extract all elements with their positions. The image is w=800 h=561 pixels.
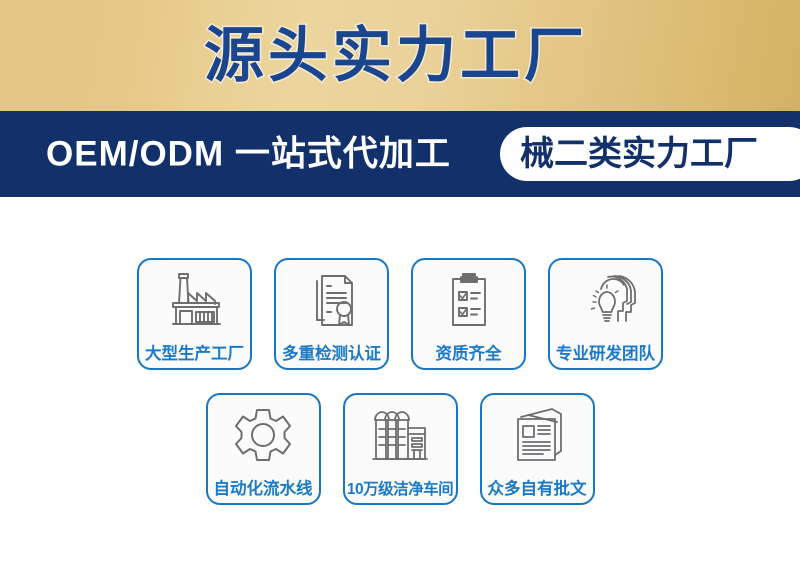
certification-pill: 械二类实力工厂 [500, 127, 800, 181]
feature-card-cleanroom[interactable]: 10万级洁净车间 [343, 393, 458, 505]
oem-odm-text: OEM/ODM 一站式代加工 [46, 137, 451, 172]
feature-card-own-approvals[interactable]: 众多自有批文 [480, 393, 595, 505]
clipboard-checklist-icon [437, 271, 501, 331]
feature-card-label: 自动化流水线 [201, 480, 326, 498]
feature-card-rnd-team[interactable]: 专业研发团队 [548, 258, 663, 370]
feature-card-large-factory[interactable]: 大型生产工厂 [137, 258, 252, 370]
factory-icon [163, 271, 227, 331]
feature-card-label: 多重检测认证 [269, 345, 394, 363]
feature-card-label: 大型生产工厂 [132, 345, 257, 363]
gear-icon [231, 406, 295, 466]
feature-card-multi-testing[interactable]: 多重检测认证 [274, 258, 389, 370]
certificate-icon [300, 271, 364, 331]
blue-subheader-band: OEM/ODM 一站式代加工 械二类实力工厂 [0, 111, 800, 197]
feature-card-label: 众多自有批文 [475, 480, 600, 498]
feature-card-label: 资质齐全 [406, 345, 531, 363]
feature-card-label: 专业研发团队 [543, 345, 668, 363]
features-area: 大型生产工厂 多重检测认证 [0, 197, 800, 561]
gold-header-band: 源头实力工厂 [0, 0, 800, 111]
feature-card-full-qualification[interactable]: 资质齐全 [411, 258, 526, 370]
page-title: 源头实力工厂 [0, 26, 800, 86]
feature-row-2: 自动化流水线 [0, 393, 800, 505]
feature-row-1: 大型生产工厂 多重检测认证 [0, 258, 800, 370]
silo-plant-icon [368, 406, 432, 466]
feature-card-automated-line[interactable]: 自动化流水线 [206, 393, 321, 505]
feature-card-label: 10万级洁净车间 [338, 481, 463, 498]
open-document-icon [505, 406, 569, 466]
lightbulb-heads-icon [574, 271, 638, 331]
promo-banner: 源头实力工厂 OEM/ODM 一站式代加工 械二类实力工厂 [0, 0, 800, 561]
certification-pill-label: 械二类实力工厂 [520, 137, 758, 171]
